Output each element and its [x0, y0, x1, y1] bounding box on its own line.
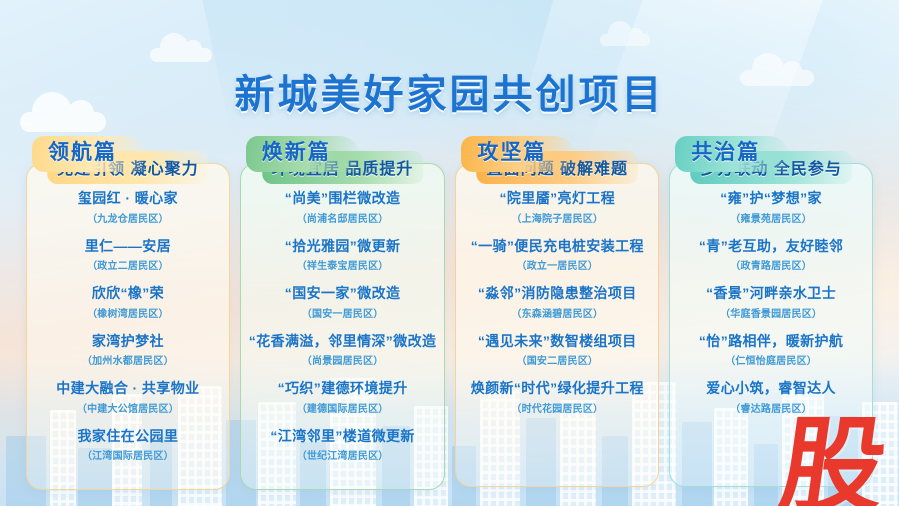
project-title: 玺园红 · 暖心家: [35, 190, 221, 208]
section-tab-label[interactable]: 攻坚篇: [461, 136, 576, 172]
cloud-icon: [150, 48, 212, 62]
list-item[interactable]: “遇见未来”数智楼组项目（国安二居民区）: [464, 333, 650, 368]
project-title: “香景”河畔亲水卫士: [678, 285, 864, 303]
list-item[interactable]: “雍”护“梦想”家（雍景苑居民区）: [678, 190, 864, 225]
project-community: （世纪江湾居民区）: [249, 447, 437, 462]
project-community: （国安一居民区）: [249, 305, 437, 320]
project-title: “院里靥”亮灯工程: [464, 190, 650, 208]
list-item[interactable]: “怡”路相伴，暖新护航（仁恒怡庭居民区）: [678, 333, 864, 368]
project-community: （江湾国际居民区）: [35, 447, 221, 462]
project-title: “花香满溢，邻里情深”微改造: [249, 333, 437, 351]
project-title: “青”老互助，友好睦邻: [678, 238, 864, 256]
project-list: “院里靥”亮灯工程（上海院子居民区）“一骑”便民充电桩安装工程（政立一居民区）“…: [464, 190, 650, 415]
project-community: （华庭香景园居民区）: [678, 305, 864, 320]
list-item[interactable]: 里仁——安居（政立二居民区）: [35, 238, 221, 273]
project-community: （雍景苑居民区）: [678, 210, 864, 225]
project-community: （时代花园居民区）: [464, 400, 650, 415]
project-title: “一骑”便民充电桩安装工程: [464, 238, 650, 256]
section-card: 党建引领 凝心聚力玺园红 · 暖心家（九龙仓居民区）里仁——安居（政立二居民区）…: [26, 163, 230, 490]
project-title: 爱心小筑，睿智达人: [678, 380, 864, 398]
project-community: （祥生泰宝居民区）: [249, 257, 437, 272]
project-community: （尚景园居民区）: [249, 352, 437, 367]
project-title: “江湾邻里”楼道微更新: [249, 428, 437, 446]
list-item[interactable]: “江湾邻里”楼道微更新（世纪江湾居民区）: [249, 428, 437, 463]
project-title: 里仁——安居: [35, 238, 221, 256]
project-community: （建德国际居民区）: [249, 400, 437, 415]
page-title: 新城美好家园共创项目: [0, 62, 899, 120]
section-column-2[interactable]: 焕新篇环境宜居 品质提升“尚美”围栏微改造（尚浦名邸居民区）“拾光雅园”微更新（…: [240, 136, 446, 490]
project-title: 家湾护梦社: [35, 333, 221, 351]
watermark-text: 股: [774, 414, 893, 506]
project-community: （国安二居民区）: [464, 352, 650, 367]
project-title: 欣欣“橡”荣: [35, 285, 221, 303]
section-tab-label[interactable]: 共治篇: [675, 136, 790, 172]
project-community: （橡树湾居民区）: [35, 305, 221, 320]
project-community: （东森涵碧居民区）: [464, 305, 650, 320]
project-community: （上海院子居民区）: [464, 210, 650, 225]
project-community: （中建大公馆居民区）: [35, 400, 221, 415]
list-item[interactable]: “尚美”围栏微改造（尚浦名邸居民区）: [249, 190, 437, 225]
list-item[interactable]: “拾光雅园”微更新（祥生泰宝居民区）: [249, 238, 437, 273]
list-item[interactable]: 中建大融合 · 共享物业（中建大公馆居民区）: [35, 380, 221, 415]
project-community: （尚浦名邸居民区）: [249, 210, 437, 225]
project-community: （加州水都居民区）: [35, 352, 221, 367]
project-community: （政立二居民区）: [35, 257, 221, 272]
project-community: （政青路居民区）: [678, 257, 864, 272]
project-title: 焕颜新“时代”绿化提升工程: [464, 380, 650, 398]
project-title: “国安一家”微改造: [249, 285, 437, 303]
project-title: “淼邻”消防隐患整治项目: [464, 285, 650, 303]
list-item[interactable]: 玺园红 · 暖心家（九龙仓居民区）: [35, 190, 221, 225]
project-title: “巧织”建德环境提升: [249, 380, 437, 398]
list-item[interactable]: “国安一家”微改造（国安一居民区）: [249, 285, 437, 320]
list-item[interactable]: “青”老互助，友好睦邻（政青路居民区）: [678, 238, 864, 273]
poster-canvas: 新城美好家园共创项目 领航篇党建引领 凝心聚力玺园红 · 暖心家（九龙仓居民区）…: [0, 0, 899, 506]
project-title: “遇见未来”数智楼组项目: [464, 333, 650, 351]
project-title: 中建大融合 · 共享物业: [35, 380, 221, 398]
project-title: “怡”路相伴，暖新护航: [678, 333, 864, 351]
project-community: （九龙仓居民区）: [35, 210, 221, 225]
list-item[interactable]: “一骑”便民充电桩安装工程（政立一居民区）: [464, 238, 650, 273]
section-column-1[interactable]: 领航篇党建引领 凝心聚力玺园红 · 暖心家（九龙仓居民区）里仁——安居（政立二居…: [26, 136, 230, 490]
section-card: 环境宜居 品质提升“尚美”围栏微改造（尚浦名邸居民区）“拾光雅园”微更新（祥生泰…: [240, 163, 446, 490]
project-list: 玺园红 · 暖心家（九龙仓居民区）里仁——安居（政立二居民区）欣欣“橡”荣（橡树…: [35, 190, 221, 462]
section-card: 直面问题 破解难题“院里靥”亮灯工程（上海院子居民区）“一骑”便民充电桩安装工程…: [455, 163, 659, 487]
project-title: “拾光雅园”微更新: [249, 238, 437, 256]
section-column-3[interactable]: 攻坚篇直面问题 破解难题“院里靥”亮灯工程（上海院子居民区）“一骑”便民充电桩安…: [455, 136, 659, 490]
list-item[interactable]: 家湾护梦社（加州水都居民区）: [35, 333, 221, 368]
project-community: （仁恒怡庭居民区）: [678, 352, 864, 367]
project-list: “尚美”围栏微改造（尚浦名邸居民区）“拾光雅园”微更新（祥生泰宝居民区）“国安一…: [249, 190, 437, 462]
project-title: “尚美”围栏微改造: [249, 190, 437, 208]
project-title: 我家住在公园里: [35, 428, 221, 446]
section-tab-label[interactable]: 领航篇: [32, 136, 147, 172]
list-item[interactable]: “巧织”建德环境提升（建德国际居民区）: [249, 380, 437, 415]
sections-container: 领航篇党建引领 凝心聚力玺园红 · 暖心家（九龙仓居民区）里仁——安居（政立二居…: [26, 136, 873, 490]
section-tab-label[interactable]: 焕新篇: [246, 136, 361, 172]
list-item[interactable]: 焕颜新“时代”绿化提升工程（时代花园居民区）: [464, 380, 650, 415]
cloud-icon: [600, 34, 650, 46]
list-item[interactable]: “香景”河畔亲水卫士（华庭香景园居民区）: [678, 285, 864, 320]
list-item[interactable]: “花香满溢，邻里情深”微改造（尚景园居民区）: [249, 333, 437, 368]
list-item[interactable]: 欣欣“橡”荣（橡树湾居民区）: [35, 285, 221, 320]
list-item[interactable]: “淼邻”消防隐患整治项目（东森涵碧居民区）: [464, 285, 650, 320]
project-community: （政立一居民区）: [464, 257, 650, 272]
project-list: “雍”护“梦想”家（雍景苑居民区）“青”老互助，友好睦邻（政青路居民区）“香景”…: [678, 190, 864, 415]
list-item[interactable]: “院里靥”亮灯工程（上海院子居民区）: [464, 190, 650, 225]
project-title: “雍”护“梦想”家: [678, 190, 864, 208]
list-item[interactable]: 我家住在公园里（江湾国际居民区）: [35, 428, 221, 463]
